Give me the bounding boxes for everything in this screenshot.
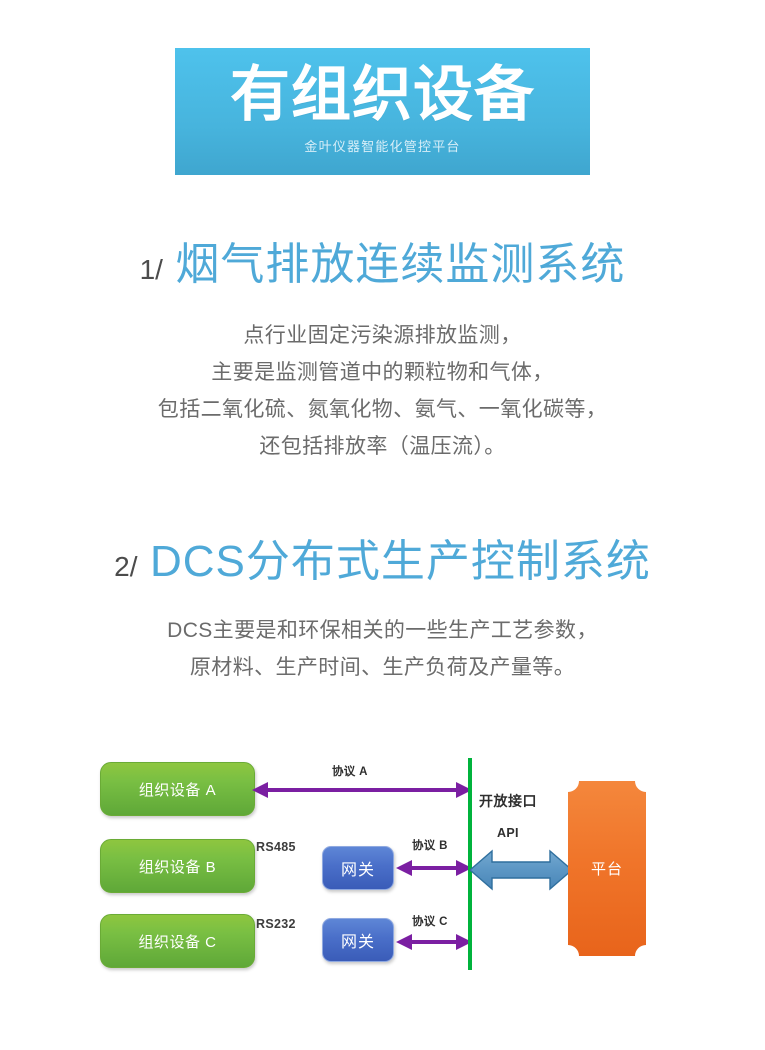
gateway-box-b: 网关 [322, 846, 394, 890]
protocol-a-label: 协议 A [332, 763, 368, 779]
section-heading-2: 2/ DCS分布式生产控制系统 [0, 525, 765, 589]
device-box-a-label: 组织设备 A [139, 779, 216, 800]
section-2-line-1: DCS主要是和环保相关的一些生产工艺参数， [0, 612, 765, 649]
api-double-arrow [470, 847, 572, 893]
section-2-line-2: 原材料、生产时间、生产负荷及产量等。 [0, 649, 765, 686]
device-box-c-label: 组织设备 C [138, 931, 216, 952]
section-1-line-4: 还包括排放率（温压流）。 [0, 428, 765, 465]
api-label: API [497, 826, 519, 840]
device-box-b: 组织设备 B [100, 839, 255, 893]
platform-label: 平台 [591, 858, 623, 879]
section-title-1: 烟气排放连续监测系统 [175, 240, 625, 289]
header-banner: 有组织设备 金叶仪器智能化管控平台 [175, 48, 590, 175]
protocol-c-label: 协议 C [412, 913, 448, 929]
device-box-b-label: 组织设备 B [139, 856, 216, 877]
device-box-a: 组织设备 A [100, 762, 255, 816]
infographic-page: 有组织设备 金叶仪器智能化管控平台 1/ 烟气排放连续监测系统 点行业固定污染源… [0, 0, 765, 1050]
open-interface-label: 开放接口 [479, 791, 537, 811]
protocol-c-arrow [396, 930, 472, 954]
gateway-box-c: 网关 [322, 918, 394, 962]
device-box-c: 组织设备 C [100, 914, 255, 968]
serial-label-rs232: RS232 [256, 917, 296, 931]
section-heading-1: 1/ 烟气排放连续监测系统 [0, 228, 765, 292]
section-body-2: DCS主要是和环保相关的一些生产工艺参数， 原材料、生产时间、生产负荷及产量等。 [0, 612, 765, 686]
section-number-1: 1/ [140, 254, 163, 285]
section-body-1: 点行业固定污染源排放监测， 主要是监测管道中的颗粒物和气体， 包括二氧化硫、氮氧… [0, 317, 765, 465]
protocol-b-label: 协议 B [412, 837, 448, 853]
banner-subtitle: 金叶仪器智能化管控平台 [304, 139, 460, 155]
section-number-2: 2/ [114, 551, 137, 582]
protocol-a-arrow [252, 778, 472, 802]
section-title-2: DCS分布式生产控制系统 [150, 537, 651, 586]
section-1-line-2: 主要是监测管道中的颗粒物和气体， [0, 354, 765, 391]
serial-label-rs485: RS485 [256, 840, 296, 854]
section-1-line-3: 包括二氧化硫、氮氧化物、氨气、一氧化碳等， [0, 391, 765, 428]
banner-title: 有组织设备 [230, 58, 535, 132]
protocol-b-arrow [396, 856, 472, 880]
gateway-box-b-label: 网关 [341, 856, 375, 880]
section-1-line-1: 点行业固定污染源排放监测， [0, 317, 765, 354]
gateway-box-c-label: 网关 [341, 928, 375, 952]
platform-box: 平台 [568, 781, 646, 956]
